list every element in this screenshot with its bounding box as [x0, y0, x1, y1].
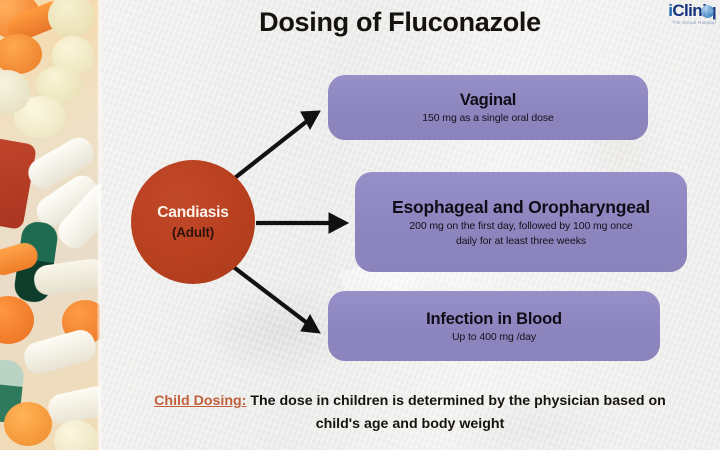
branch-detail: Up to 400 mg /day [452, 330, 536, 345]
branch-card-infection-in-blood[interactable]: Infection in Blood Up to 400 mg /day [328, 291, 660, 361]
arrow-right-icon [256, 213, 348, 233]
branch-card-vaginal[interactable]: Vaginal 150 mg as a single oral dose [328, 75, 648, 140]
branch-detail-line2: daily for at least three weeks [456, 234, 586, 250]
branch-title: Esophageal and Oropharyngeal [392, 195, 650, 219]
infographic-canvas: Dosing of Fluconazole iCliniq The Virtua… [0, 0, 720, 450]
branch-title: Vaginal [460, 89, 516, 111]
footer-text-line2: child's age and body weight [316, 416, 505, 432]
branch-title: Infection in Blood [426, 308, 562, 330]
footer-keyword: Child Dosing: [154, 393, 246, 409]
footer-text-line1: The dose in children is determined by th… [246, 393, 665, 409]
source-node-label-line2: (Adult) [172, 223, 214, 242]
source-node-label-line1: Candiasis [157, 203, 228, 223]
branch-card-esophageal-oropharyngeal[interactable]: Esophageal and Oropharyngeal 200 mg on t… [355, 172, 687, 272]
source-node-candiasis[interactable]: Candiasis (Adult) [131, 160, 255, 284]
branch-detail: 150 mg as a single oral dose [422, 111, 553, 126]
arrow-up-right-icon [222, 111, 320, 188]
arrow-down-right-icon [223, 259, 320, 333]
footer-note: Child Dosing: The dose in children is de… [105, 390, 715, 436]
branch-detail-line1: 200 mg on the first day, followed by 100… [409, 219, 632, 235]
